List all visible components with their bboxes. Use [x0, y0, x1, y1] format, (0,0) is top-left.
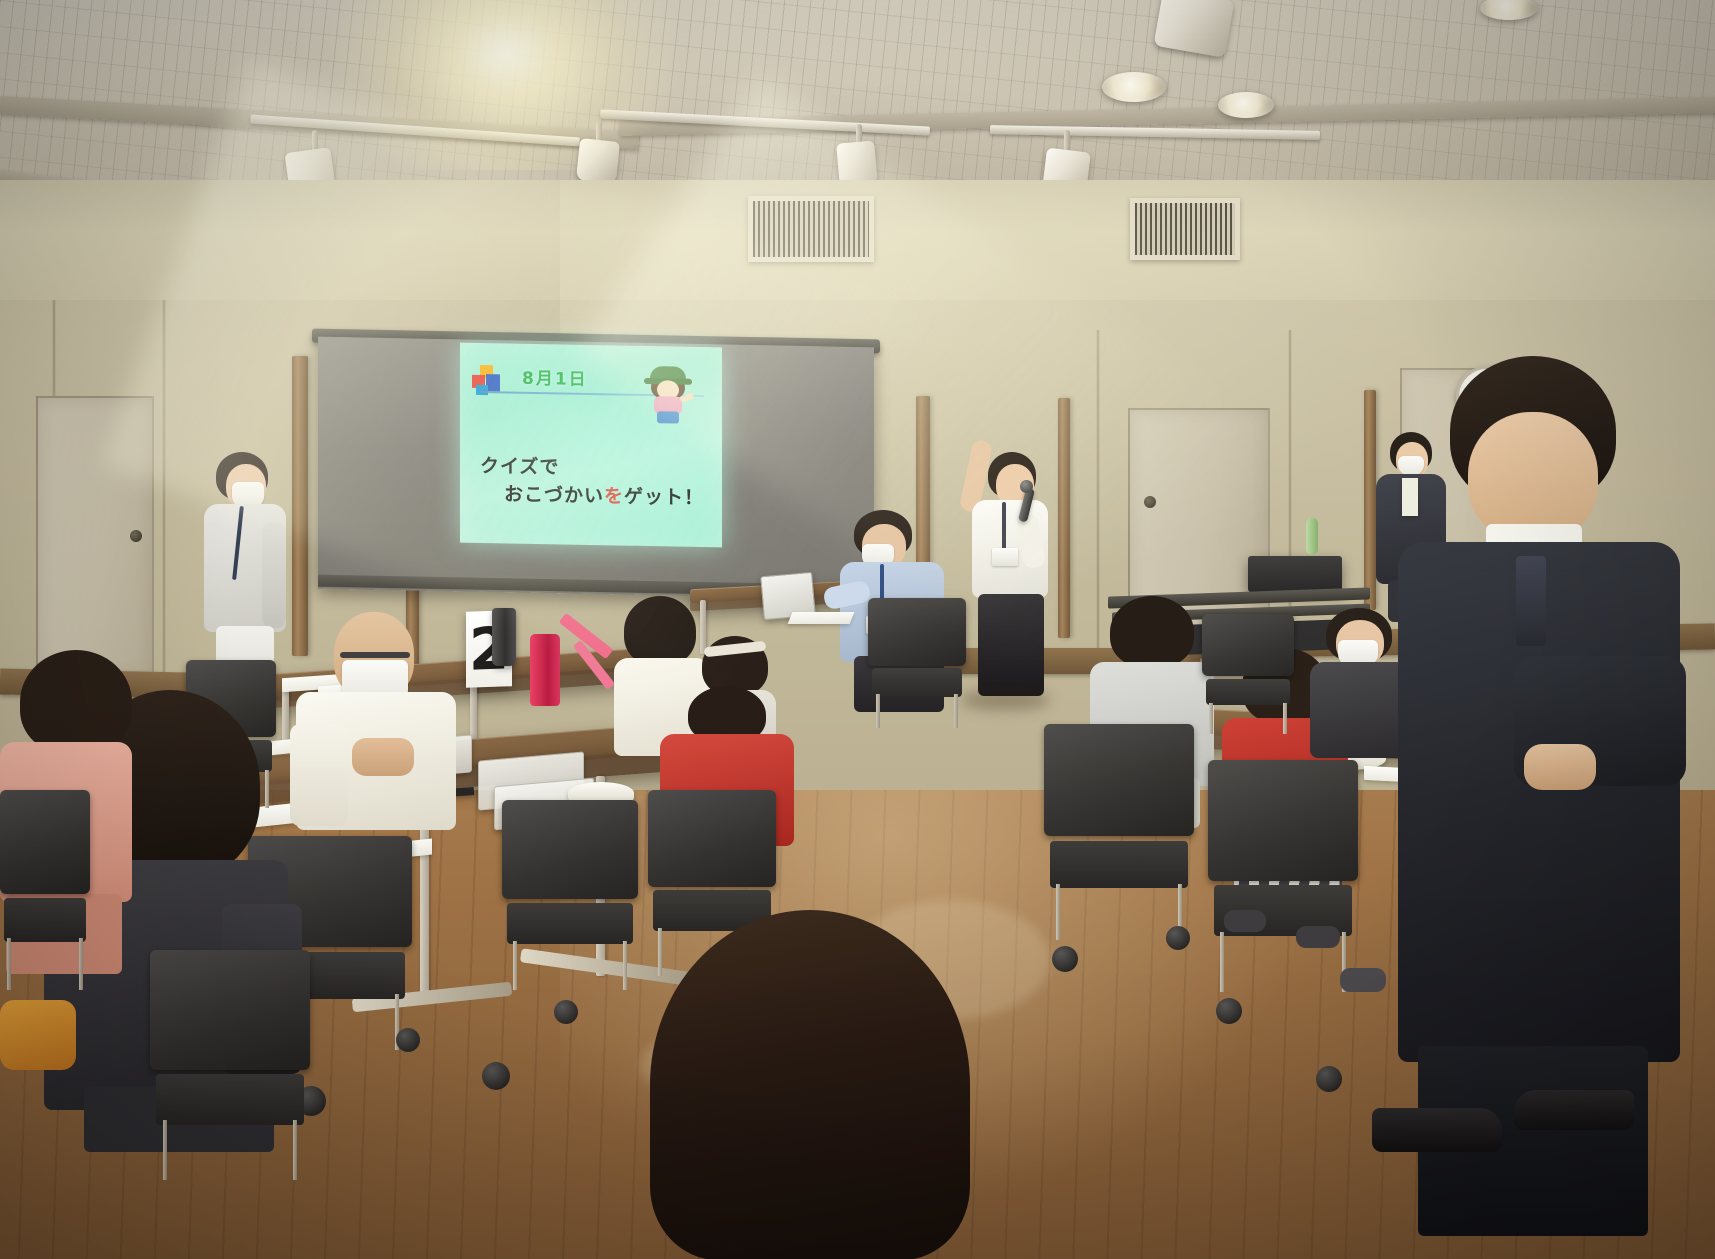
hands [1524, 744, 1596, 790]
glasses-icon [340, 652, 410, 658]
hands [352, 738, 414, 776]
slide-date: 8月1日 [522, 364, 588, 390]
sandal [1340, 968, 1386, 992]
caster-wheel [1166, 926, 1190, 950]
projected-slide: 8月1日 クイズで おこづかいをゲット！ [460, 343, 722, 548]
chair-seat [1050, 841, 1188, 889]
stacking-chair[interactable] [150, 950, 310, 1180]
stacking-chair[interactable] [0, 790, 90, 990]
chair-back [868, 598, 966, 666]
air-vent [748, 196, 874, 262]
chair-back [648, 790, 776, 887]
wall-column [292, 356, 308, 656]
chair-seat [872, 668, 962, 697]
caster-wheel [1316, 1066, 1342, 1092]
arm [290, 724, 348, 826]
door[interactable] [36, 396, 154, 678]
pet-bottle [1306, 518, 1318, 554]
person-seated-man-white-polo [288, 612, 460, 842]
dress-shoe [1372, 1108, 1502, 1152]
laptop-base [788, 612, 855, 624]
microphone-head-icon [1020, 480, 1033, 493]
arm [262, 522, 286, 628]
chair-legs [7, 938, 83, 990]
chair-seat [156, 1074, 303, 1125]
av-cabinet [1248, 556, 1342, 592]
chair-legs [513, 941, 627, 990]
door-knob-icon [130, 530, 142, 542]
stacking-chair[interactable] [502, 800, 638, 990]
caster-wheel [1052, 946, 1078, 972]
downlight-icon [1102, 72, 1166, 102]
hair [1110, 596, 1194, 668]
slide-headline-line1: クイズで [480, 451, 559, 479]
slide-headline-part-c: ゲット！ [624, 486, 704, 509]
stacking-chair[interactable] [1208, 760, 1358, 992]
chair-back [1044, 724, 1194, 836]
chair-back [0, 790, 90, 894]
person-head-foreground-bottom [650, 910, 970, 1259]
air-vent [1130, 198, 1240, 260]
tie [1516, 556, 1546, 646]
door-knob-icon [1144, 496, 1156, 508]
wall-column [1058, 398, 1070, 638]
chair-back [150, 950, 310, 1070]
sandal [1296, 926, 1340, 948]
slide-headline-part-b: を [604, 485, 624, 507]
event-room-photo: 8月1日 クイズで おこづかいをゲット！ [0, 0, 1715, 1259]
wall-seam [162, 300, 166, 700]
downlight-icon [1218, 92, 1274, 118]
chair-back [502, 800, 638, 899]
chair-back [1208, 760, 1358, 881]
person-presenter-with-mic [958, 436, 1052, 706]
legs [978, 594, 1044, 696]
chair-legs [1056, 884, 1182, 940]
tumbler [492, 608, 516, 666]
chair-seat [507, 903, 632, 945]
chair-legs [876, 694, 958, 728]
chair-back [1202, 614, 1294, 676]
hair [650, 910, 970, 1259]
spotlight-icon [576, 138, 620, 184]
stacking-chair[interactable] [1202, 614, 1294, 734]
caster-wheel [482, 1062, 510, 1090]
hair [624, 596, 696, 666]
mascot-illustration-icon [642, 364, 696, 425]
head [1468, 412, 1598, 542]
chair-seat [1206, 679, 1291, 705]
water-bottle [530, 634, 560, 706]
caster-wheel [1216, 998, 1242, 1024]
shadow [960, 690, 1050, 710]
caster-wheel [396, 1028, 420, 1052]
slide-headline-line2: おこづかいをゲット！ [504, 479, 704, 510]
person-man-suit-foreground [1390, 356, 1690, 1156]
dress-shoe [1514, 1090, 1634, 1130]
stacking-chair[interactable] [1044, 724, 1194, 940]
lanyard [1002, 502, 1006, 550]
foreground-object [0, 1000, 76, 1070]
stacking-chair[interactable] [868, 598, 966, 728]
hair [20, 650, 132, 754]
chair-legs [1209, 703, 1286, 734]
name-badge [992, 548, 1018, 566]
chair-legs [163, 1120, 297, 1180]
chair-seat [4, 898, 87, 942]
caster-wheel [554, 1000, 578, 1024]
sandal [1224, 910, 1266, 932]
slide-headline-part-a: おこづかい [504, 483, 604, 507]
